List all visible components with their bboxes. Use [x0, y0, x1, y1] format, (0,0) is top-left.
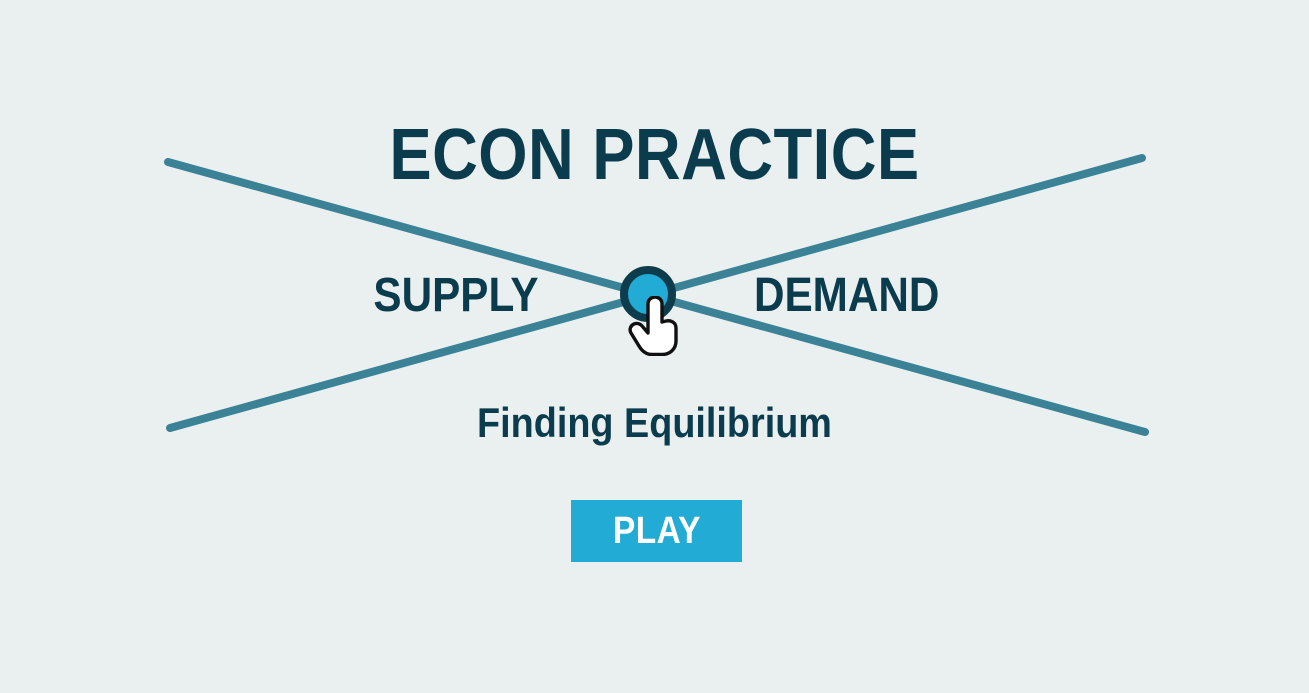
- page-subtitle: Finding Equilibrium: [65, 396, 1243, 450]
- demand-label: DEMAND: [754, 268, 930, 324]
- title-screen: ECON PRACTICE SUPPLY DEMAND Finding Equi…: [0, 0, 1309, 693]
- play-button-label: PLAY: [613, 511, 701, 551]
- page-title: ECON PRACTICE: [79, 113, 1231, 197]
- play-button[interactable]: PLAY: [571, 500, 742, 562]
- pointing-hand-cursor: [628, 296, 682, 356]
- supply-label: SUPPLY: [368, 268, 544, 324]
